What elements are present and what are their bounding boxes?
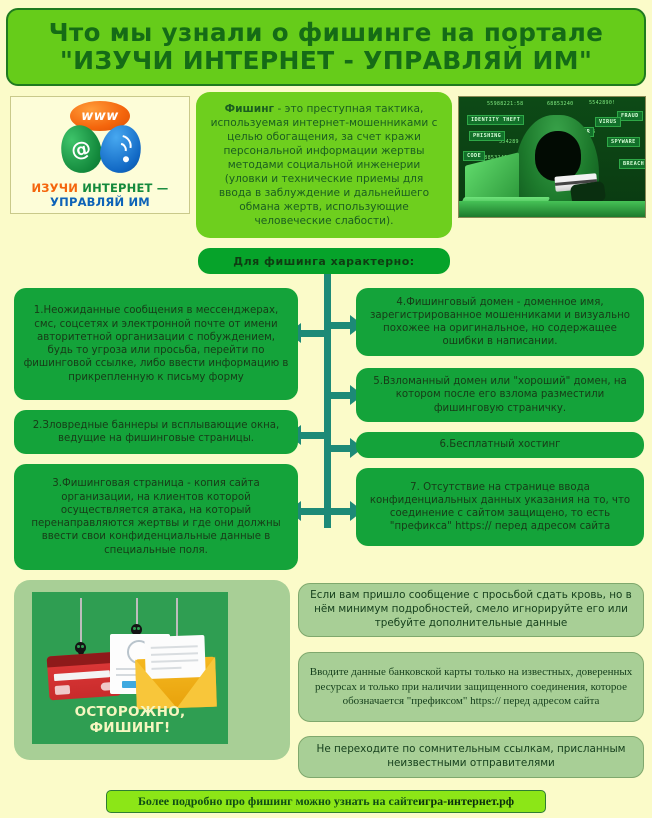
code-snippet: 68853240 [547,101,573,107]
logo-text-line-2: УПРАВЛЯЙ ИМ [50,195,150,209]
envelope-flap-left [135,658,177,709]
title-line-2: "ИЗУЧИ ИНТЕРНЕТ - УПРАВЛЯЙ ИМ" [60,47,592,75]
footer-text: Более подробно про фишинг можно узнать н… [138,794,418,809]
card-chip [55,685,71,695]
logo-text-line-1: ИЗУЧИ ИНТЕРНЕТ — [31,181,168,195]
letter-line-1 [151,645,198,649]
card-strip [54,670,110,681]
flow-box-right-7: 7. Отсутствие на странице ввода конфиден… [356,468,644,546]
flow-box-left-3: 3.Фишинговая страница - копия сайта орга… [14,464,298,570]
at-glyph: @ [69,135,94,163]
definition-text: - это преступная тактика, используемая и… [211,103,438,228]
tip-box-3: Не переходите по сомнительным ссылкам, п… [298,736,644,778]
flow-box-right-5: 5.Взломанный домен или "хороший" домен, … [356,368,644,422]
overlay-tag: PHISHING [469,131,505,141]
phishing-definition: Фишинг - это преступная тактика, использ… [196,92,452,238]
phishing-illustration: ОСТОРОЖНО, ФИШИНГ! [32,592,228,744]
section-header: Для фишинга характерно: [198,248,450,274]
tip-box-1: Если вам пришло сообщение с просьбой сда… [298,583,644,637]
skull-hook-icon-1 [75,642,86,653]
logo-word-izuchi: ИЗУЧИ [31,181,82,195]
wifi-dot [122,156,129,163]
connector-stem-right-4 [326,322,352,329]
connector-stem-right-6 [326,445,352,452]
definition-term: Фишинг [225,103,274,115]
connector-stem-right-5 [326,392,352,399]
footer-site: игра-интернет.рф [418,794,514,809]
overlay-tag: SPYWARE [607,137,640,147]
title-line-1: Что мы узнали о фишинге на портале [49,19,603,46]
overlay-tag: FRAUD [617,111,643,121]
code-snippet: 55988221:58 [487,101,523,107]
letter-line-2 [151,652,198,656]
envelope-illustration [135,657,217,710]
overlay-tag: VIRUS [595,117,621,127]
logo-artwork: www @ [44,101,156,173]
hacker-photo: 55988221:58 68853240 5542890! 32451906 5… [458,96,646,218]
logo-word-internet: ИНТЕРНЕТ — [82,181,168,195]
connector-spine [324,274,331,528]
overlay-tag: CODE [463,151,485,161]
desk-surface [459,201,645,217]
connector-stem-left-1 [300,330,330,337]
flow-box-right-6: 6.Бесплатный хостинг [356,432,644,458]
overlay-tag: IDENTITY THEFT [467,115,524,125]
flow-box-left-1: 1.Неожиданные сообщения в мессенджерах, … [14,288,298,400]
dark-face-shape [535,131,581,181]
code-snippet: 5542890! [589,100,615,106]
card-top-band [47,652,120,668]
footer-banner: Более подробно про фишинг можно узнать н… [106,790,546,813]
tips-panel: ОСТОРОЖНО, ФИШИНГ! С о в е т ы [14,580,290,760]
page-title: Что мы узнали о фишинге на портале "ИЗУЧ… [6,8,646,86]
flow-box-right-4: 4.Фишинговый домен - доменное имя, зарег… [356,288,644,356]
envelope-flap-right [175,657,217,708]
connector-stem-right-7 [326,508,352,515]
flow-box-left-2: 2.Зловредные баннеры и всплывающие окна,… [14,410,298,454]
illustration-caption: ОСТОРОЖНО, ФИШИНГ! [32,704,228,736]
overlay-tag: BREACH [619,159,646,169]
connector-stem-left-2 [300,432,330,439]
portal-logo: www @ ИЗУЧИ ИНТЕРНЕТ — УПРАВЛЯЙ ИМ [10,96,190,214]
infographic-page: Что мы узнали о фишинге на портале "ИЗУЧ… [0,0,652,818]
tip-box-2: Вводите данные банковской карты только н… [298,652,644,722]
